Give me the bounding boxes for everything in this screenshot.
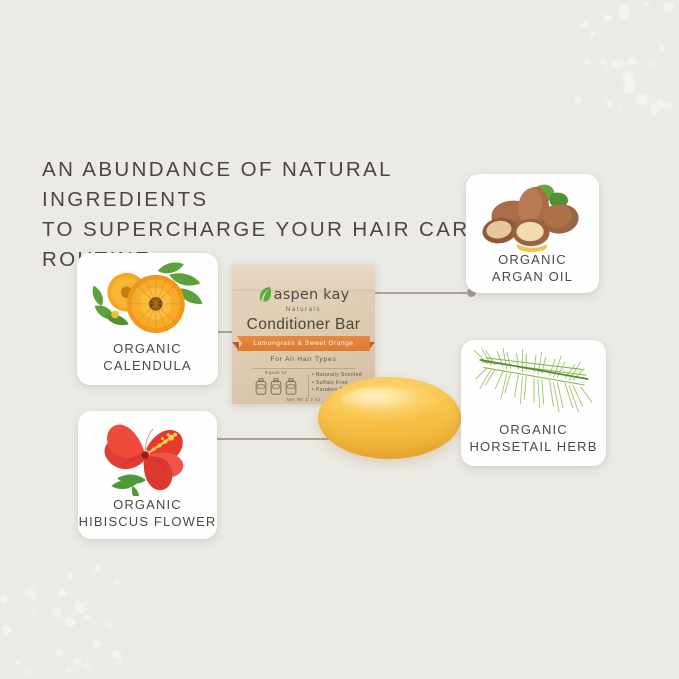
horsetail-herb-image — [461, 346, 606, 422]
decorative-dot — [656, 100, 664, 108]
equal-to-block: Equal to — [246, 371, 306, 395]
claim-item: • Naturally Scented — [312, 372, 370, 380]
decorative-dot — [583, 57, 591, 65]
leaf-icon — [258, 286, 271, 303]
decorative-dot — [628, 57, 636, 65]
conditioner-bar-product — [318, 377, 461, 459]
vertical-divider — [308, 374, 309, 398]
divider-rule — [252, 368, 355, 369]
decorative-dot — [85, 614, 90, 619]
connector-line-argan — [373, 292, 471, 294]
decorative-dot — [92, 574, 97, 579]
bottle-icon — [285, 378, 297, 395]
decorative-dot — [67, 572, 74, 579]
decorative-dot — [112, 650, 121, 659]
hibiscus-flower-image — [78, 417, 217, 497]
infographic-canvas: An abundance of natural ingredients to s… — [0, 0, 679, 679]
decorative-dot — [84, 663, 91, 670]
decorative-dot — [612, 59, 624, 71]
ingredient-card-hibiscus-flower[interactable]: Organic Hibiscus Flower — [78, 411, 217, 539]
brand-name: aspen kay — [274, 287, 350, 303]
decorative-dot — [623, 72, 634, 83]
decorative-dot — [66, 667, 72, 673]
brand-subtitle: Naturals — [232, 306, 375, 313]
decorative-dot — [599, 57, 608, 66]
argan-nuts-image — [466, 180, 599, 252]
decorative-dot — [15, 659, 21, 665]
decorative-dot — [603, 14, 611, 22]
decorative-dot — [52, 608, 62, 618]
decorative-dots-top-right — [569, 0, 679, 115]
product-title: Conditioner Bar — [232, 316, 375, 334]
decorative-dot — [647, 61, 655, 69]
scent-label: Lemongrass & Sweet Orange — [253, 340, 353, 347]
decorative-dot — [575, 96, 582, 103]
decorative-dot — [581, 22, 588, 29]
decorative-dot — [95, 564, 101, 570]
decorative-dot — [626, 79, 635, 88]
decorative-dot — [663, 102, 673, 112]
decorative-dot — [93, 641, 100, 648]
equal-to-label: Equal to — [246, 371, 306, 376]
decorative-dot — [115, 653, 120, 658]
ingredient-label: Organic Argan Oil — [492, 252, 573, 287]
ingredient-card-argan-oil[interactable]: Organic Argan Oil — [466, 174, 599, 293]
decorative-dot — [605, 66, 609, 70]
decorative-dot — [30, 611, 34, 615]
decorative-dot — [0, 595, 7, 602]
decorative-dot — [624, 61, 628, 65]
decorative-dot — [30, 593, 36, 599]
decorative-dot — [636, 94, 648, 106]
decorative-dot — [115, 579, 119, 583]
decorative-dot — [74, 602, 85, 613]
decorative-dot — [74, 658, 81, 665]
ingredient-label: Organic Hibiscus Flower — [79, 497, 217, 532]
decorative-dot — [2, 626, 10, 634]
decorative-dot — [83, 602, 88, 607]
ingredient-label: Organic Horsetail Herb — [469, 422, 597, 457]
bottle-icon — [255, 378, 267, 395]
decorative-dot — [658, 44, 665, 51]
decorative-dot — [605, 100, 612, 107]
decorative-dot — [106, 621, 113, 628]
decorative-dot — [117, 659, 124, 666]
decorative-dot — [58, 589, 67, 598]
connector-line-hibiscus — [209, 438, 334, 440]
ingredient-card-calendula[interactable]: Organic Calendula — [77, 253, 218, 385]
decorative-dot — [644, 2, 650, 8]
decorative-dot — [65, 617, 76, 628]
decorative-dots-bottom-left — [0, 559, 135, 679]
decorative-dot — [56, 649, 63, 656]
bottle-icon — [270, 378, 282, 395]
decorative-dot — [25, 588, 35, 598]
decorative-dot — [26, 669, 31, 674]
decorative-dot — [623, 82, 635, 94]
decorative-dot — [619, 6, 631, 18]
decorative-dot — [650, 103, 660, 113]
calendula-flower-image — [77, 259, 218, 341]
bottle-icons — [246, 378, 306, 395]
decorative-dot — [590, 32, 595, 37]
ingredient-card-horsetail-herb[interactable]: Organic Horsetail Herb — [461, 340, 606, 466]
brand-lockup: aspen kay — [232, 286, 375, 303]
ingredient-label: Organic Calendula — [103, 341, 191, 376]
scent-banner: Lemongrass & Sweet Orange — [237, 336, 370, 351]
hair-types-label: For All Hair Types — [232, 356, 375, 363]
decorative-dot — [617, 105, 621, 109]
decorative-dot — [663, 2, 673, 12]
bar-highlight — [341, 387, 421, 412]
